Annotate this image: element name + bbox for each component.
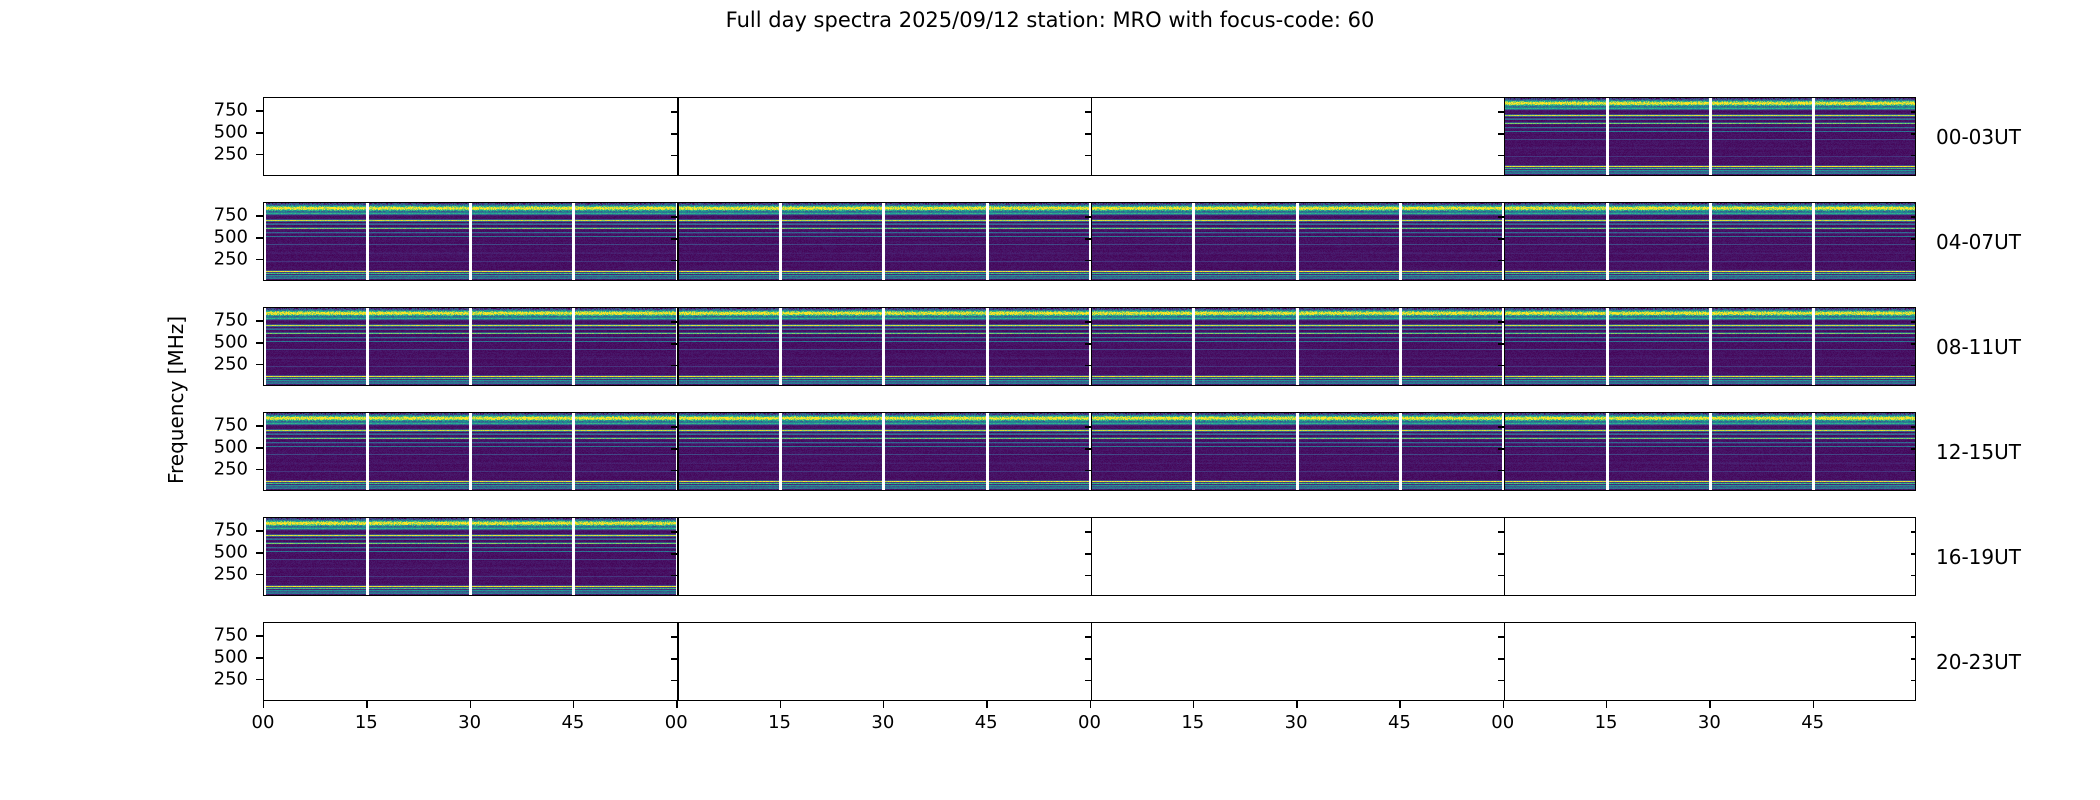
y-tick-mark (671, 680, 677, 681)
x-tick-mark (780, 701, 781, 708)
y-tick-mark (671, 343, 677, 344)
y-tick-mark (671, 321, 677, 322)
hour-separator (1091, 308, 1092, 385)
y-tick-mark (1911, 321, 1916, 322)
x-tick-label: 00 (1078, 712, 1101, 733)
spectrogram-panel-04-07ut[interactable] (263, 202, 1916, 281)
hour-separator (677, 518, 678, 595)
hour-separator (677, 413, 678, 490)
y-tick-mark (1085, 111, 1091, 112)
y-tick-label: 500 (193, 647, 248, 668)
y-tick-mark (671, 470, 677, 471)
y-tick-label: 500 (193, 332, 248, 353)
y-tick-label: 500 (193, 122, 248, 143)
y-tick-mark (256, 364, 263, 365)
y-tick-label: 750 (193, 415, 248, 436)
y-tick-mark (671, 155, 677, 156)
y-tick-mark (1911, 260, 1916, 261)
x-tick-label: 45 (1801, 712, 1824, 733)
y-tick-mark (1498, 155, 1504, 156)
x-tick-mark (470, 701, 471, 708)
y-tick-mark (1085, 155, 1091, 156)
row-label-16-19ut: 16-19UT (1936, 545, 2021, 569)
hour-separator (1091, 623, 1092, 700)
y-tick-label: 500 (193, 437, 248, 458)
page-title: Full day spectra 2025/09/12 station: MRO… (0, 8, 2100, 32)
row-label-20-23ut: 20-23UT (1936, 650, 2021, 674)
y-tick-mark (1085, 575, 1091, 576)
y-tick-mark (1911, 636, 1916, 637)
row-label-04-07ut: 04-07UT (1936, 230, 2021, 254)
y-tick-mark (1911, 531, 1916, 532)
y-tick-mark (1911, 216, 1916, 217)
y-tick-mark (1911, 111, 1916, 112)
y-tick-mark (256, 679, 263, 680)
spectrogram-panel-08-11ut[interactable] (263, 307, 1916, 386)
y-tick-mark (1911, 448, 1916, 449)
y-tick-mark (256, 574, 263, 575)
hour-separator (677, 308, 678, 385)
y-tick-mark (1498, 133, 1504, 134)
x-tick-mark (366, 701, 367, 708)
x-tick-mark (1399, 701, 1400, 708)
y-tick-mark (671, 111, 677, 112)
y-tick-mark (256, 447, 263, 448)
y-tick-mark (1085, 470, 1091, 471)
y-tick-label: 750 (193, 625, 248, 646)
y-tick-mark (671, 531, 677, 532)
y-tick-mark (256, 635, 263, 636)
y-tick-mark (256, 530, 263, 531)
y-tick-mark (671, 365, 677, 366)
y-tick-mark (1498, 426, 1504, 427)
y-tick-label: 250 (193, 144, 248, 165)
y-tick-mark (1498, 321, 1504, 322)
y-tick-mark (256, 657, 263, 658)
y-tick-mark (671, 575, 677, 576)
hour-separator (1504, 623, 1505, 700)
hour-separator (1504, 98, 1505, 175)
y-tick-mark (1085, 133, 1091, 134)
hour-separator (1091, 203, 1092, 280)
y-tick-label: 500 (193, 542, 248, 563)
y-tick-label: 250 (193, 564, 248, 585)
y-tick-mark (1911, 470, 1916, 471)
y-tick-mark (671, 658, 677, 659)
y-axis-label: Frequency [MHz] (164, 316, 188, 484)
x-tick-mark (1090, 701, 1091, 708)
row-label-08-11ut: 08-11UT (1936, 335, 2021, 359)
y-tick-mark (1911, 155, 1916, 156)
y-tick-mark (1085, 238, 1091, 239)
y-tick-mark (1085, 553, 1091, 554)
y-tick-mark (1498, 260, 1504, 261)
y-tick-mark (671, 448, 677, 449)
x-tick-label: 45 (1388, 712, 1411, 733)
y-tick-mark (256, 552, 263, 553)
y-tick-mark (1085, 260, 1091, 261)
hour-separator (1091, 518, 1092, 595)
y-tick-mark (256, 342, 263, 343)
y-tick-mark (256, 237, 263, 238)
y-tick-mark (1911, 680, 1916, 681)
y-tick-mark (671, 636, 677, 637)
x-tick-mark (573, 701, 574, 708)
y-tick-mark (1911, 658, 1916, 659)
y-tick-mark (1498, 111, 1504, 112)
y-tick-label: 250 (193, 249, 248, 270)
y-tick-mark (1085, 343, 1091, 344)
hour-separator (1091, 413, 1092, 490)
y-tick-mark (1085, 321, 1091, 322)
x-tick-label: 30 (871, 712, 894, 733)
y-tick-mark (1498, 365, 1504, 366)
x-tick-mark (1193, 701, 1194, 708)
y-tick-mark (256, 320, 263, 321)
y-tick-mark (1911, 575, 1916, 576)
y-tick-mark (1911, 426, 1916, 427)
x-tick-mark (1503, 701, 1504, 708)
y-tick-label: 750 (193, 100, 248, 121)
y-tick-mark (1498, 553, 1504, 554)
y-tick-label: 250 (193, 459, 248, 480)
y-tick-mark (1085, 448, 1091, 449)
y-tick-mark (1911, 238, 1916, 239)
y-tick-mark (1498, 470, 1504, 471)
y-tick-mark (1085, 636, 1091, 637)
x-tick-label: 15 (1595, 712, 1618, 733)
y-tick-mark (1498, 658, 1504, 659)
y-tick-mark (1498, 636, 1504, 637)
y-tick-mark (1498, 531, 1504, 532)
y-tick-label: 750 (193, 520, 248, 541)
y-tick-mark (256, 425, 263, 426)
y-tick-mark (671, 553, 677, 554)
row-label-00-03ut: 00-03UT (1936, 125, 2021, 149)
y-tick-mark (1085, 365, 1091, 366)
x-tick-mark (676, 701, 677, 708)
y-tick-mark (1498, 680, 1504, 681)
y-tick-mark (1498, 238, 1504, 239)
spectrogram-panel-20-23ut[interactable] (263, 622, 1916, 701)
hour-separator (1504, 308, 1505, 385)
x-tick-mark (263, 701, 264, 708)
y-tick-label: 250 (193, 669, 248, 690)
y-tick-mark (1911, 343, 1916, 344)
y-tick-mark (256, 469, 263, 470)
x-tick-mark (883, 701, 884, 708)
hour-separator (1504, 203, 1505, 280)
x-tick-label: 30 (1698, 712, 1721, 733)
y-tick-mark (1911, 365, 1916, 366)
hour-separator (1504, 518, 1505, 595)
x-tick-label: 00 (665, 712, 688, 733)
x-tick-label: 15 (355, 712, 378, 733)
x-tick-mark (1296, 701, 1297, 708)
x-tick-mark (1606, 701, 1607, 708)
row-label-12-15ut: 12-15UT (1936, 440, 2021, 464)
y-tick-label: 750 (193, 310, 248, 331)
y-tick-mark (671, 260, 677, 261)
x-tick-label: 00 (252, 712, 275, 733)
hour-separator (1091, 98, 1092, 175)
y-tick-mark (1085, 216, 1091, 217)
y-tick-mark (256, 154, 263, 155)
hour-separator (1504, 413, 1505, 490)
y-tick-label: 500 (193, 227, 248, 248)
y-tick-mark (1498, 343, 1504, 344)
x-tick-label: 45 (975, 712, 998, 733)
spectrogram-panel-00-03ut[interactable] (263, 97, 1916, 176)
y-tick-mark (671, 238, 677, 239)
y-tick-mark (1085, 680, 1091, 681)
y-tick-mark (1911, 133, 1916, 134)
y-tick-mark (671, 216, 677, 217)
y-tick-mark (671, 133, 677, 134)
x-tick-mark (1709, 701, 1710, 708)
x-tick-label: 30 (1285, 712, 1308, 733)
x-tick-label: 30 (458, 712, 481, 733)
hour-separator (677, 98, 678, 175)
spectrogram-panel-12-15ut[interactable] (263, 412, 1916, 491)
y-tick-mark (1085, 426, 1091, 427)
x-tick-mark (1813, 701, 1814, 708)
y-tick-mark (256, 215, 263, 216)
y-tick-mark (256, 132, 263, 133)
spectrogram-figure: Full day spectra 2025/09/12 station: MRO… (0, 0, 2100, 800)
y-tick-mark (1085, 658, 1091, 659)
x-tick-label: 15 (768, 712, 791, 733)
y-tick-mark (1498, 216, 1504, 217)
hour-separator (677, 623, 678, 700)
y-tick-mark (1498, 448, 1504, 449)
x-tick-label: 00 (1491, 712, 1514, 733)
spectrogram-panel-16-19ut[interactable] (263, 517, 1916, 596)
y-tick-mark (671, 426, 677, 427)
y-tick-mark (1911, 553, 1916, 554)
y-tick-mark (1498, 575, 1504, 576)
y-tick-label: 750 (193, 205, 248, 226)
x-tick-label: 15 (1181, 712, 1204, 733)
hour-separator (677, 203, 678, 280)
y-tick-mark (256, 110, 263, 111)
x-tick-mark (986, 701, 987, 708)
x-tick-label: 45 (561, 712, 584, 733)
y-tick-mark (1085, 531, 1091, 532)
y-tick-mark (256, 259, 263, 260)
y-tick-label: 250 (193, 354, 248, 375)
